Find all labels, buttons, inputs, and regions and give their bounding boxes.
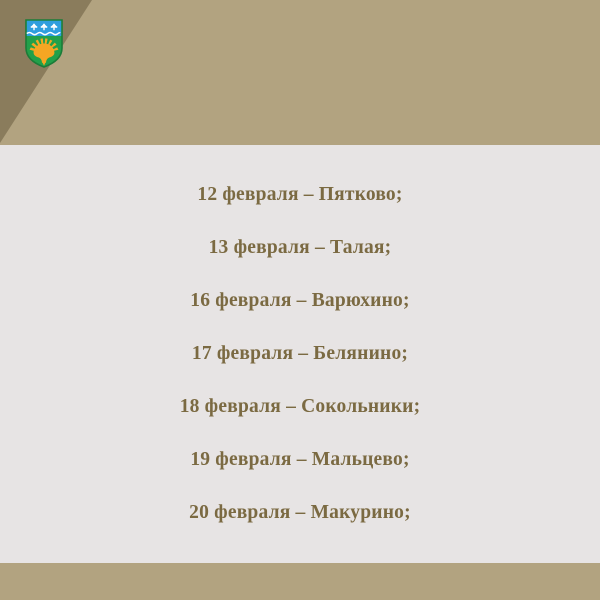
list-item: 13 февраля – Талая; <box>20 237 580 259</box>
header-corner-wedge <box>0 0 150 145</box>
list-item: 17 февраля – Белянино; <box>20 343 580 365</box>
list-item: 16 февраля – Варюхино; <box>20 290 580 312</box>
list-item: 18 февраля – Сокольники; <box>20 396 580 418</box>
header-band <box>0 0 600 145</box>
list-item: 12 февраля – Пятково; <box>20 184 580 206</box>
footer-band <box>0 563 600 600</box>
schedule-list: 12 февраля – Пятково; 13 февраля – Талая… <box>0 184 600 524</box>
coat-of-arms-icon <box>25 19 63 68</box>
slide-canvas: 12 февраля – Пятково; 13 февраля – Талая… <box>0 0 600 600</box>
list-item: 19 февраля – Мальцево; <box>20 449 580 471</box>
list-item: 20 февраля – Макурино; <box>20 502 580 524</box>
content-area: 12 февраля – Пятково; 13 февраля – Талая… <box>0 145 600 563</box>
